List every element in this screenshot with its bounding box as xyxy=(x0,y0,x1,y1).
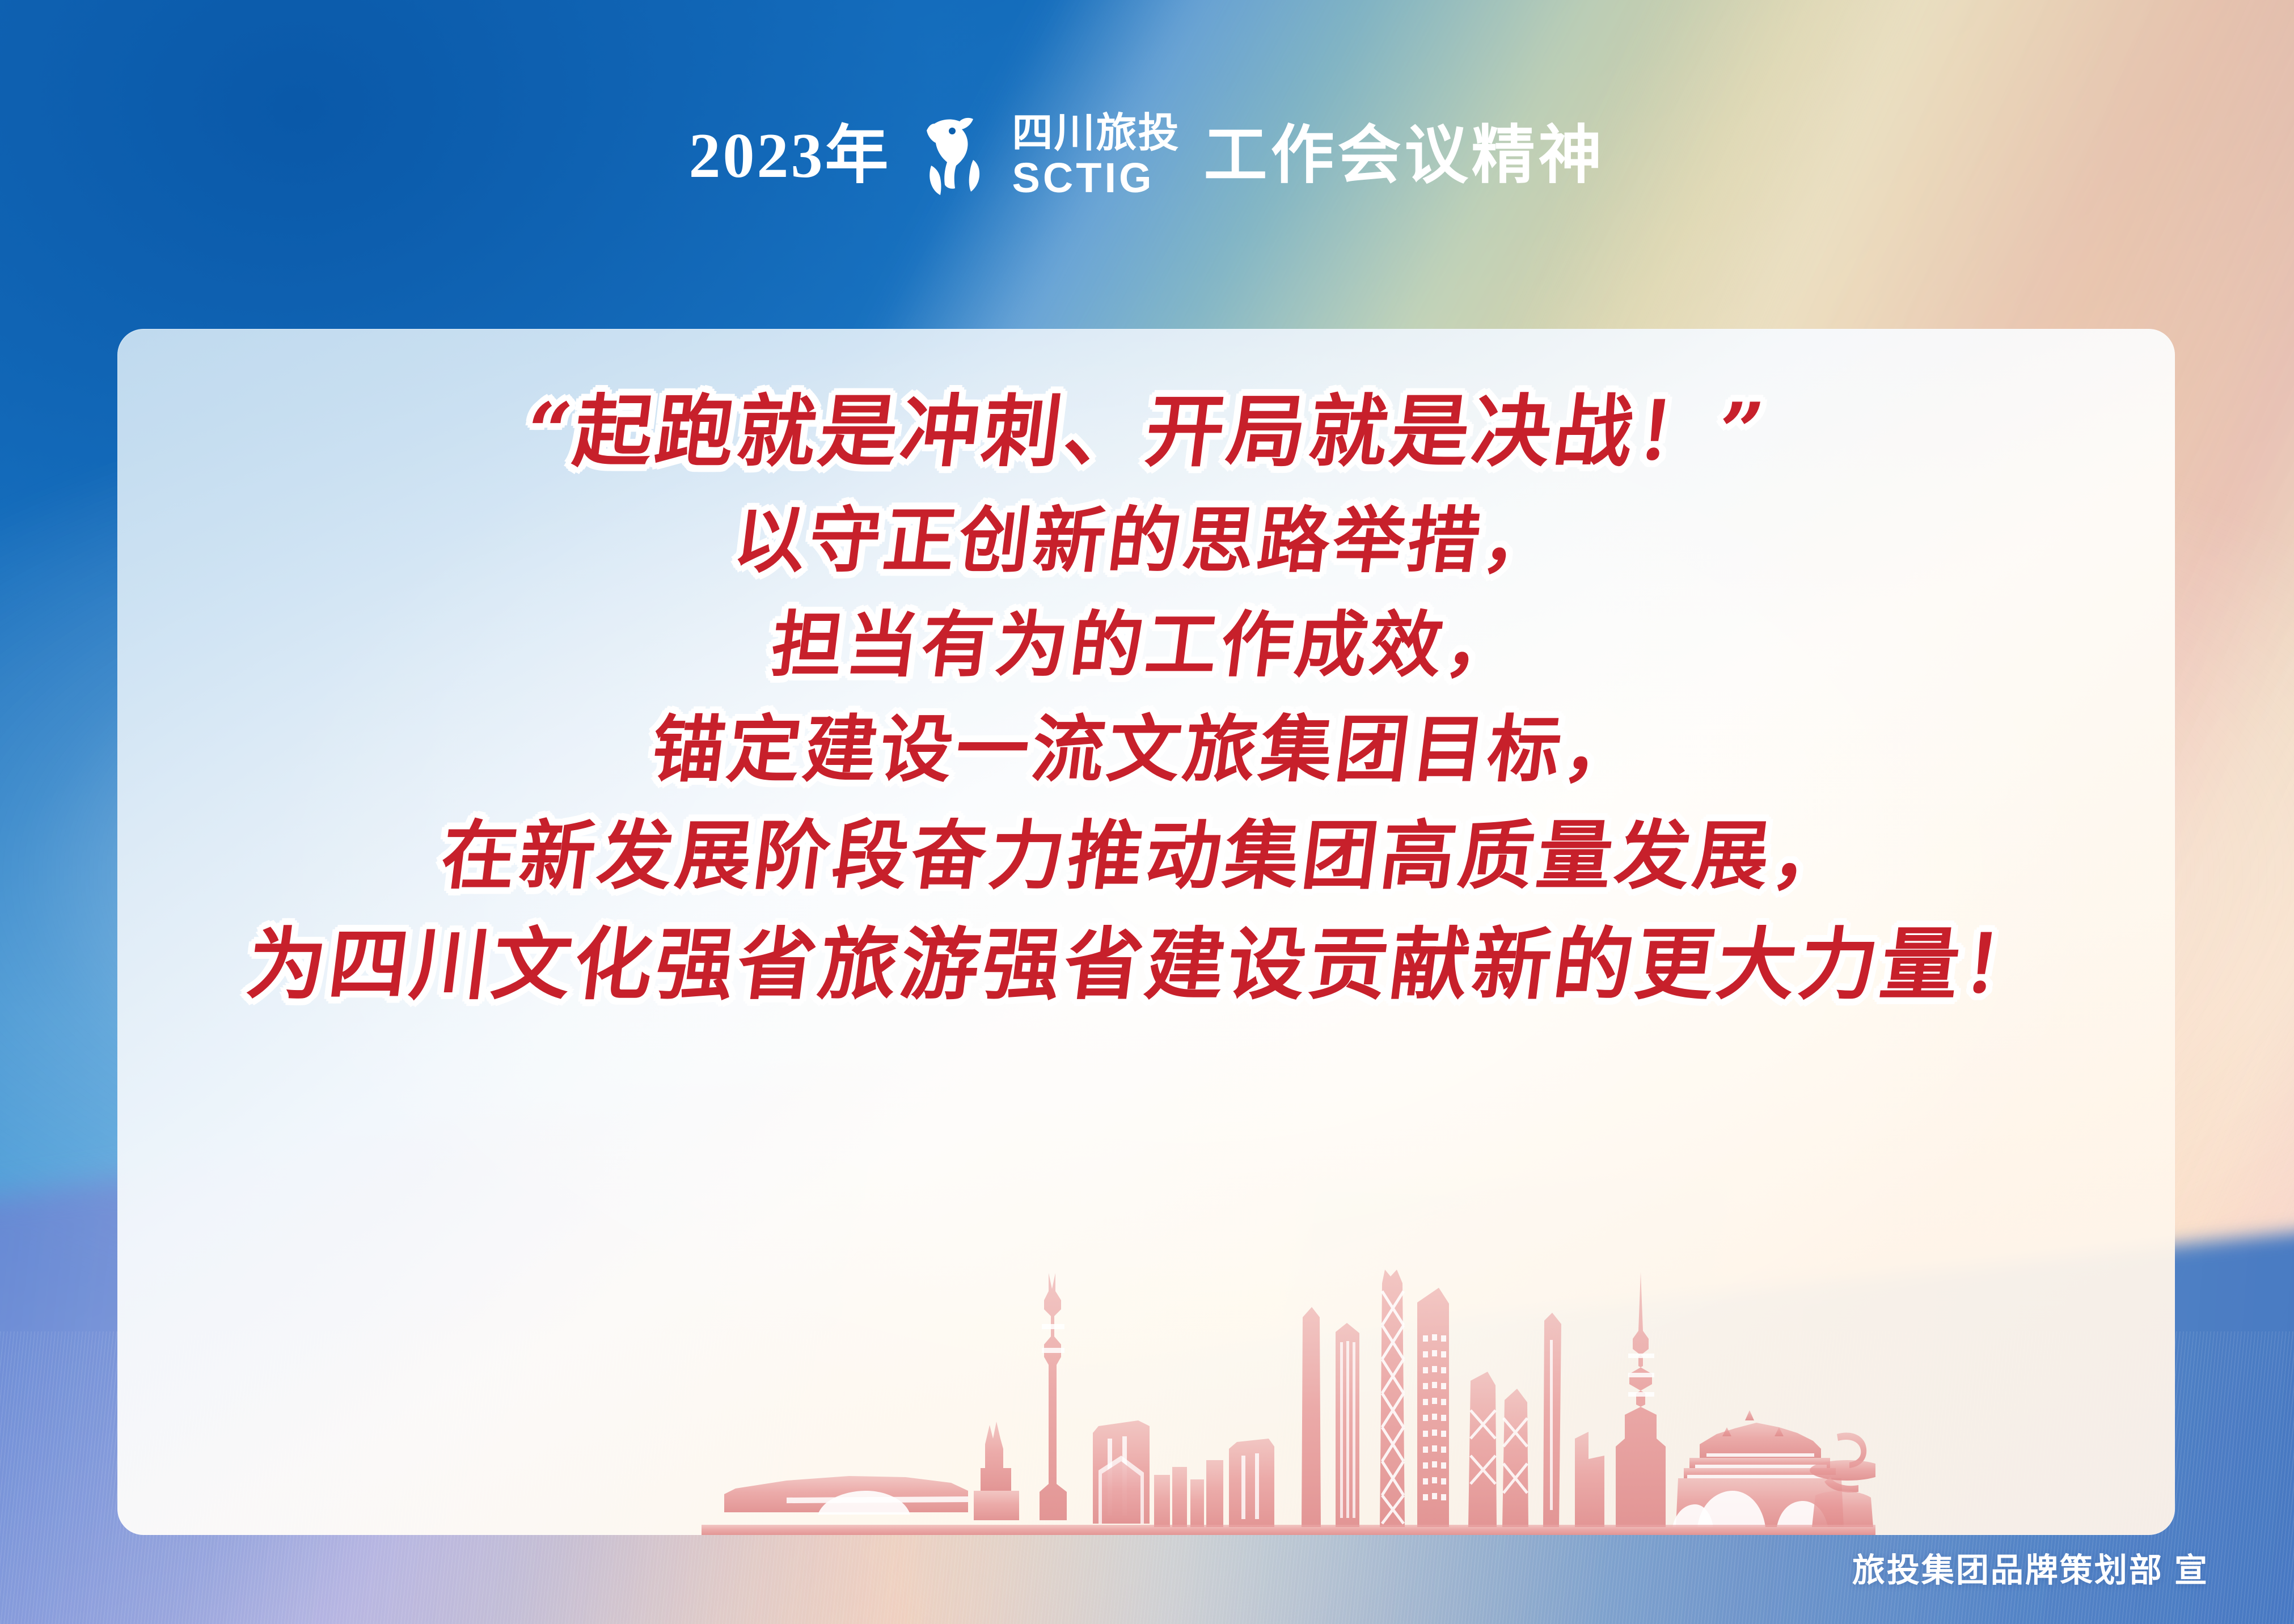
slogan-line-2: 以守正创新的思路举措， xyxy=(117,505,2175,576)
sctig-logo-wordmark: 四川旅投 SCTIG xyxy=(1012,113,1180,199)
footer-credit: 旅投集团品牌策划部 宣 xyxy=(1852,1552,2209,1589)
poster-header: 2023年 四川旅投 SCTIG 工作会议精神 xyxy=(0,85,2294,227)
sctig-logo: 四川旅投 SCTIG xyxy=(914,113,1180,199)
slogan-line-4: 锚定建设一流文旅集团目标， xyxy=(117,713,2175,786)
slogan-line-5: 在新发展阶段奋力推动集团高质量发展， xyxy=(117,819,2175,894)
content-card: “起跑就是冲刺、开局就是决战！” 以守正创新的思路举措， 担当有为的工作成效， … xyxy=(117,329,2175,1535)
sctig-logo-chinese-name: 四川旅投 xyxy=(1012,113,1180,154)
header-year: 2023年 xyxy=(688,124,890,188)
slogan-line-3: 担当有为的工作成效， xyxy=(117,609,2175,680)
slogan-block: “起跑就是冲刺、开局就是决战！” 以守正创新的思路举措， 担当有为的工作成效， … xyxy=(117,392,2175,1004)
slogan-line-6: 为四川文化强省旅游强省建设贡献新的更大力量！ xyxy=(117,925,2175,1004)
chengdu-skyline-icon xyxy=(702,1268,1875,1535)
sctig-panda-logo-icon xyxy=(914,113,999,198)
header-title-suffix: 工作会议精神 xyxy=(1204,124,1606,188)
slogan-line-1: “起跑就是冲刺、开局就是决战！” xyxy=(117,392,2175,471)
sctig-logo-english-name: SCTIG xyxy=(1012,157,1154,199)
poster-canvas: 2023年 四川旅投 SCTIG 工作会议精神 “起跑就是冲刺、开局就 xyxy=(0,0,2294,1624)
poster-footer: 旅投集团品牌策划部 宣 xyxy=(1852,1543,2209,1591)
